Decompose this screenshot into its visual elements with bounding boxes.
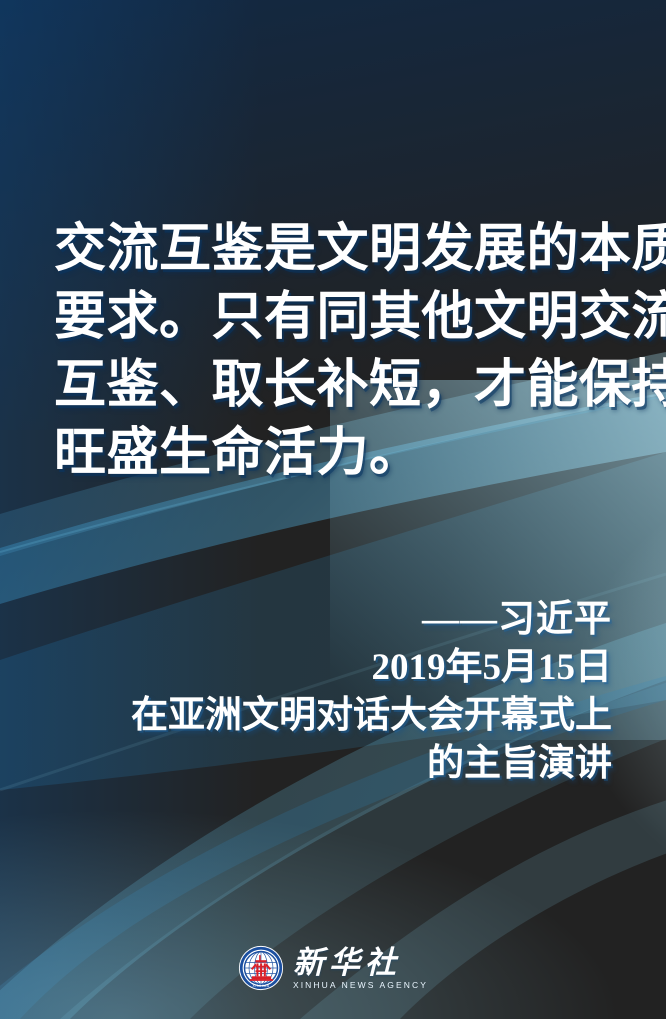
- attribution-author: ——习近平: [52, 596, 612, 644]
- quote-line-3: 互鉴、取长补短，才能保持: [54, 352, 624, 420]
- xinhua-logo: XINHUA 新华社 XINHUA NEWS AGENCY: [0, 939, 666, 997]
- xinhua-name-cn: 新华社: [293, 947, 401, 979]
- quote-text-block: 交流互鉴是文明发展的本质 要求。只有同其他文明交流 互鉴、取长补短，才能保持 旺…: [54, 216, 624, 488]
- quote-poster: 交流互鉴是文明发展的本质 要求。只有同其他文明交流 互鉴、取长补短，才能保持 旺…: [0, 0, 666, 1019]
- attribution-date: 2019年5月15日: [52, 644, 612, 692]
- background-decoration: [0, 0, 666, 1019]
- xinhua-emblem-icon: XINHUA: [238, 945, 284, 991]
- quote-line-4: 旺盛生命活力。: [54, 420, 624, 488]
- emblem-ring-text: XINHUA: [252, 984, 269, 988]
- xinhua-wordmark: 新华社 XINHUA NEWS AGENCY: [293, 947, 428, 991]
- xinhua-name-en: XINHUA NEWS AGENCY: [293, 980, 428, 991]
- quote-line-2: 要求。只有同其他文明交流: [54, 284, 624, 352]
- quote-line-1: 交流互鉴是文明发展的本质: [54, 216, 624, 284]
- attribution-occasion-cont: 的主旨演讲: [52, 740, 612, 788]
- attribution-block: ——习近平 2019年5月15日 在亚洲文明对话大会开幕式上 的主旨演讲: [52, 596, 612, 788]
- attribution-occasion: 在亚洲文明对话大会开幕式上: [52, 692, 612, 740]
